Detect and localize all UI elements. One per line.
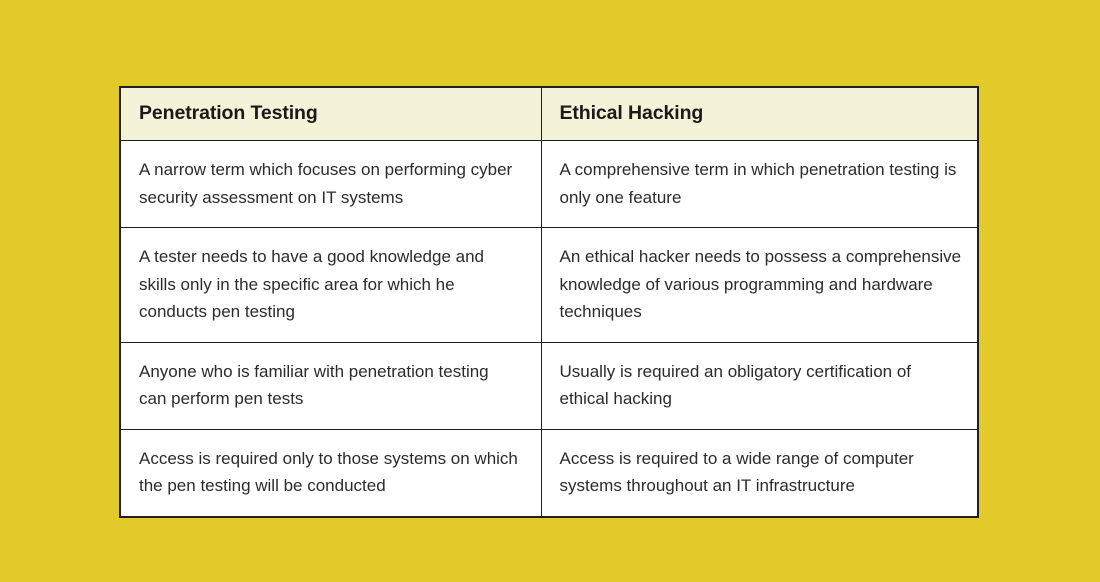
- cell-text: A comprehensive term in which penetratio…: [560, 156, 964, 211]
- cell-ethical-hacking-4: Access is required to a wide range of co…: [541, 429, 977, 516]
- cell-text: Access is required to a wide range of co…: [560, 445, 964, 500]
- comparison-table-container: Penetration Testing Ethical Hacking A na…: [119, 86, 979, 518]
- cell-penetration-testing-2: A tester needs to have a good knowledge …: [121, 228, 541, 343]
- cell-ethical-hacking-2: An ethical hacker needs to possess a com…: [541, 228, 977, 343]
- cell-ethical-hacking-1: A comprehensive term in which penetratio…: [541, 141, 977, 228]
- cell-text: A tester needs to have a good knowledge …: [139, 243, 521, 326]
- table-body: A narrow term which focuses on performin…: [121, 141, 977, 516]
- cell-text: An ethical hacker needs to possess a com…: [560, 243, 964, 326]
- cell-text: Usually is required an obligatory certif…: [560, 358, 964, 413]
- table-row: A tester needs to have a good knowledge …: [121, 228, 977, 343]
- cell-penetration-testing-1: A narrow term which focuses on performin…: [121, 141, 541, 228]
- table-header: Penetration Testing Ethical Hacking: [121, 88, 977, 141]
- table-row: A narrow term which focuses on performin…: [121, 141, 977, 228]
- comparison-table: Penetration Testing Ethical Hacking A na…: [121, 88, 977, 516]
- cell-penetration-testing-4: Access is required only to those systems…: [121, 429, 541, 516]
- cell-penetration-testing-3: Anyone who is familiar with penetration …: [121, 342, 541, 429]
- cell-text: Anyone who is familiar with penetration …: [139, 358, 521, 413]
- table-header-row: Penetration Testing Ethical Hacking: [121, 88, 977, 141]
- column-header-penetration-testing: Penetration Testing: [121, 88, 541, 141]
- table-row: Anyone who is familiar with penetration …: [121, 342, 977, 429]
- page-canvas: Penetration Testing Ethical Hacking A na…: [0, 0, 1100, 582]
- table-row: Access is required only to those systems…: [121, 429, 977, 516]
- cell-ethical-hacking-3: Usually is required an obligatory certif…: [541, 342, 977, 429]
- cell-text: Access is required only to those systems…: [139, 445, 521, 500]
- cell-text: A narrow term which focuses on performin…: [139, 156, 521, 211]
- column-header-ethical-hacking: Ethical Hacking: [541, 88, 977, 141]
